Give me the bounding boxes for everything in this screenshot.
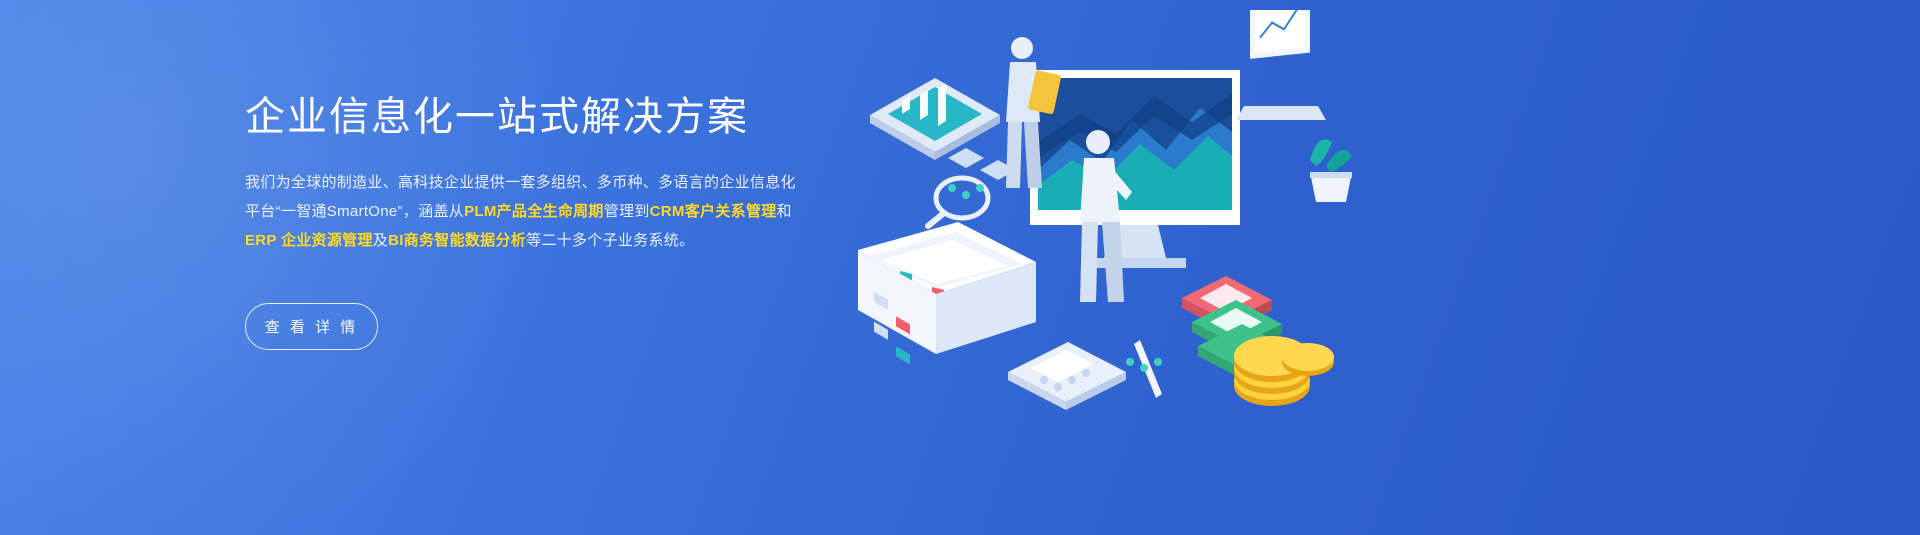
description-text: 和 xyxy=(777,203,792,220)
document-sheet-icon xyxy=(948,148,1016,180)
calculator-icon xyxy=(1008,342,1126,410)
view-details-button[interactable]: 查 看 详 情 xyxy=(245,303,378,350)
desk-calendar-icon xyxy=(858,222,1036,364)
hero-banner: 企业信息化一站式解决方案 我们为全球的制造业、高科技企业提供一套多组织、多币种、… xyxy=(0,0,1920,535)
highlighted-term: BI商务智能数据分析 xyxy=(388,232,526,249)
phone-bar-chart-icon xyxy=(870,78,1000,160)
hero-description: 我们为全球的制造业、高科技企业提供一套多组织、多币种、多语言的企业信息化平台“一… xyxy=(245,168,805,255)
highlighted-term: PLM产品全生命周期 xyxy=(464,203,604,220)
description-text: 等二十多个子业务系统。 xyxy=(526,232,694,249)
page-title: 企业信息化一站式解决方案 xyxy=(245,92,749,142)
isometric-illustration xyxy=(840,10,1400,430)
highlighted-term: CRM客户关系管理 xyxy=(650,203,777,220)
coin-stack-icon xyxy=(1234,336,1334,406)
description-text: 及 xyxy=(373,232,388,249)
highlighted-term: ERP 企业资源管理 xyxy=(245,232,373,249)
description-text: 管理到 xyxy=(604,203,650,220)
hero-content: 企业信息化一站式解决方案 我们为全球的制造业、高科技企业提供一套多组织、多币种、… xyxy=(245,0,865,535)
potted-plant-icon xyxy=(1310,139,1352,202)
desktop-monitor-area-chart xyxy=(1030,70,1240,268)
laptop-line-chart-icon xyxy=(1236,10,1326,120)
pen-icon xyxy=(1134,340,1162,408)
